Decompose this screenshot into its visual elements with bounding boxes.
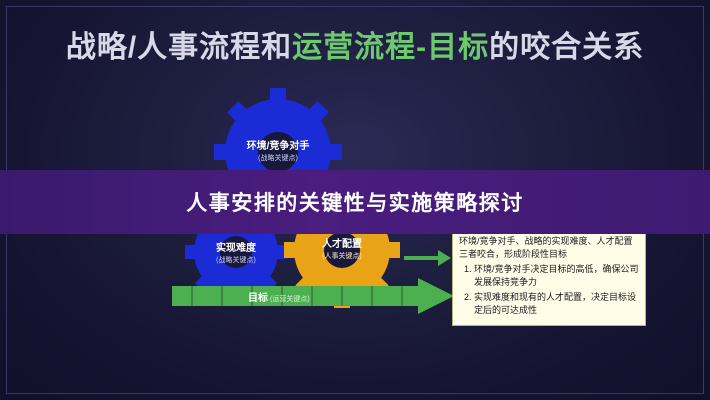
goal-arrow-label: 目标(运营关键点) <box>248 289 310 304</box>
difficulty-gear-title: 实现难度 <box>216 243 256 256</box>
note-box: 环境/竞争对手、战略的实现难度、人才配置三者咬合，形成阶段性目标 环境/竞争对手… <box>452 229 646 326</box>
title-part-2: 运营流程-目标 <box>292 31 489 64</box>
overlay-banner: 人事安排的关键性与实施策略探讨 <box>0 170 710 234</box>
talent-gear-label: 人才配置 (人事关键点) <box>322 239 362 261</box>
note-item-1: 环境/竞争对手决定目标的高低，确保公司发展保持竞争力 <box>474 263 639 289</box>
talent-gear-subtitle: (人事关键点) <box>322 252 362 261</box>
strategy-gear-subtitle: (战略关键点) <box>247 154 310 163</box>
goal-arrow-title: 目标 <box>248 293 268 304</box>
strategy-gear-label: 环境/竞争对手 (战略关键点) <box>247 141 310 163</box>
title-part-3: 的咬合关系 <box>489 31 644 64</box>
note-item-2: 实现难度和现有的人才配置，决定目标设定后的可达成性 <box>474 291 639 317</box>
difficulty-gear-label: 实现难度 (战略关键点) <box>216 243 256 265</box>
note-heading: 环境/竞争对手、战略的实现难度、人才配置三者咬合，形成阶段性目标 <box>459 235 639 261</box>
strategy-gear-title: 环境/竞争对手 <box>247 141 310 154</box>
note-connector-arrow <box>404 248 452 268</box>
title-part-1: 战略/人事流程和 <box>66 31 292 64</box>
goal-arrow-subtitle: (运营关键点) <box>270 296 310 303</box>
note-list: 环境/竞争对手决定目标的高低，确保公司发展保持竞争力 实现难度和现有的人才配置，… <box>459 263 639 317</box>
talent-gear-title: 人才配置 <box>322 239 362 252</box>
slide-stage: 战略/人事流程和运营流程-目标的咬合关系 <box>0 0 710 400</box>
difficulty-gear-subtitle: (战略关键点) <box>216 256 256 265</box>
overlay-banner-text: 人事安排的关键性与实施策略探讨 <box>186 187 524 217</box>
page-title: 战略/人事流程和运营流程-目标的咬合关系 <box>0 22 710 66</box>
